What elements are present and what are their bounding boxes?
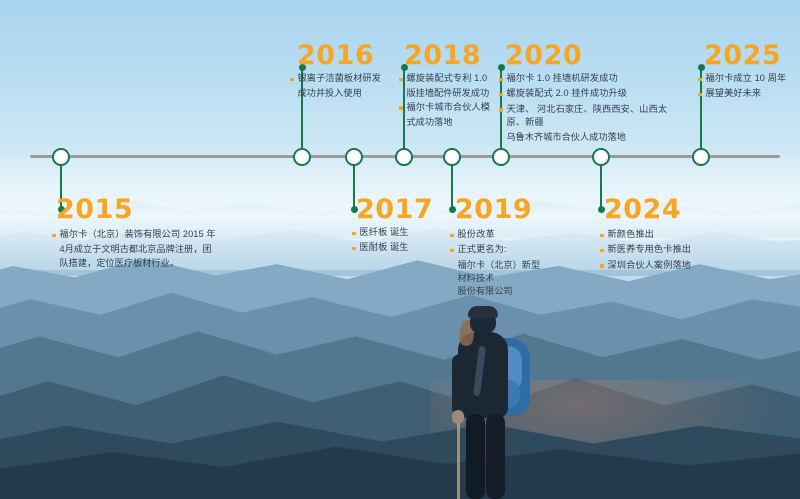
event-text-line: 展望美好未来 — [706, 87, 762, 100]
timeline-node-2016[interactable] — [293, 148, 311, 166]
event-text-line: 股份改革 — [458, 228, 495, 241]
trekking-pole — [457, 416, 460, 499]
bullet-square-icon — [290, 78, 294, 82]
event-text-line: 福尔卡成立 10 周年 — [706, 72, 787, 85]
event-bullet: 医纤板 诞生 — [352, 226, 432, 239]
year-label-2018: 2018 — [404, 42, 481, 69]
event-details-2018: 螺旋装配式专利 1.0版挂墙配件研发成功福尔卡城市合伙人模式成功落地 — [399, 72, 497, 129]
event-bullet: 深圳合伙人案例落地 — [600, 259, 720, 272]
event-details-2024: 新颜色推出新医养专用色卡推出深圳合伙人案例落地 — [600, 228, 720, 274]
event-bullet: 福尔卡成立 10 周年 — [698, 72, 798, 85]
event-bullet: 展望美好未来 — [698, 87, 798, 100]
event-bullet: 福尔卡（北京）装饰有限公司 2015 年 — [52, 228, 217, 241]
event-text-line: 福尔卡城市合伙人模 — [407, 101, 491, 114]
event-details-2020: 福尔卡 1.0 挂墙机研发成功螺旋装配式 2.0 挂件成功升级天津、 河北石家庄… — [499, 72, 669, 145]
year-label-2017: 2017 — [356, 196, 433, 223]
event-text-line: 新医养专用色卡推出 — [608, 243, 692, 256]
bullet-square-icon — [399, 78, 403, 82]
event-text-line: 深圳合伙人案例落地 — [608, 259, 692, 272]
bullet-square-icon — [499, 93, 503, 97]
bullet-square-icon — [450, 234, 454, 238]
timeline-node-2020[interactable] — [492, 148, 510, 166]
timeline-stem-tip-2020 — [498, 64, 505, 71]
event-text-line: 福尔卡（北京）装饰有限公司 2015 年 — [60, 228, 216, 241]
bullet-square-icon — [399, 106, 403, 110]
hiker-leg-right — [486, 414, 505, 499]
event-details-2025: 福尔卡成立 10 周年展望美好未来 — [698, 72, 798, 103]
event-text-line: 版挂墙配件研发成功 — [399, 87, 497, 100]
year-label-2024: 2024 — [604, 196, 681, 223]
timeline-node-2017[interactable] — [345, 148, 363, 166]
event-text-line: 天津、 河北石家庄、陕西西安、山西太原、新疆 — [507, 103, 670, 130]
event-text-line: 股份有限公司 — [450, 285, 548, 298]
bullet-square-icon — [499, 108, 503, 112]
hiker-figure — [432, 306, 552, 499]
event-bullet: 医耐板 诞生 — [352, 241, 432, 254]
year-label-2016: 2016 — [297, 42, 374, 69]
event-bullet: 股份改革 — [450, 228, 548, 241]
event-text-line: 4月成立于文明古都北京品牌注册，团 — [52, 243, 217, 256]
event-details-2015: 福尔卡（北京）装饰有限公司 2015 年4月成立于文明古都北京品牌注册，团队搭建… — [52, 228, 217, 270]
bullet-square-icon — [352, 247, 356, 251]
event-text-line: 螺旋装配式专利 1.0 — [407, 72, 488, 85]
bullet-square-icon — [499, 78, 503, 82]
event-bullet: 新医养专用色卡推出 — [600, 243, 720, 256]
timeline-node-2025[interactable] — [692, 148, 710, 166]
event-text-line: 银离子洁菌板材研发 — [298, 72, 382, 85]
year-label-2020: 2020 — [505, 42, 582, 69]
event-text-line: 式成功落地 — [399, 116, 497, 129]
timeline-node-2024[interactable] — [592, 148, 610, 166]
timeline-node-2015[interactable] — [52, 148, 70, 166]
timeline-infographic: 2015福尔卡（北京）装饰有限公司 2015 年4月成立于文明古都北京品牌注册，… — [0, 0, 800, 499]
timeline-node-2019[interactable] — [443, 148, 461, 166]
bullet-square-icon — [600, 249, 604, 253]
event-bullet: 天津、 河北石家庄、陕西西安、山西太原、新疆 — [499, 103, 669, 130]
bullet-square-icon — [600, 234, 604, 238]
event-text-line: 医纤板 诞生 — [360, 226, 409, 239]
hiker-cap — [468, 306, 498, 318]
event-text-line: 福尔卡 1.0 挂墙机研发成功 — [507, 72, 618, 85]
event-details-2017: 医纤板 诞生医耐板 诞生 — [352, 226, 432, 257]
event-bullet: 螺旋装配式 2.0 挂件成功升级 — [499, 87, 669, 100]
event-bullet: 正式更名为: — [450, 243, 548, 256]
event-text-line: 螺旋装配式 2.0 挂件成功升级 — [507, 87, 628, 100]
event-text-line: 成功并投入使用 — [290, 87, 386, 100]
event-text-line: 队搭建，定位医疗板材行业。 — [52, 257, 217, 270]
event-text-line: 医耐板 诞生 — [360, 241, 409, 254]
event-details-2019: 股份改革正式更名为:福尔卡（北京）新型材料技术股份有限公司 — [450, 228, 548, 299]
timeline-node-2018[interactable] — [395, 148, 413, 166]
hiker-hand — [452, 410, 464, 424]
bullet-square-icon — [600, 264, 604, 268]
bullet-square-icon — [352, 232, 356, 236]
event-bullet: 福尔卡城市合伙人模 — [399, 101, 497, 114]
event-text-line: 福尔卡（北京）新型材料技术 — [450, 259, 548, 286]
bullet-square-icon — [698, 93, 702, 97]
event-details-2016: 银离子洁菌板材研发成功并投入使用 — [290, 72, 386, 101]
event-bullet: 新颜色推出 — [600, 228, 720, 241]
year-label-2015: 2015 — [56, 196, 133, 223]
year-label-2019: 2019 — [455, 196, 532, 223]
event-bullet: 螺旋装配式专利 1.0 — [399, 72, 497, 85]
hiker-arm — [452, 354, 468, 416]
hiker-leg-left — [466, 414, 485, 499]
bullet-square-icon — [52, 234, 56, 238]
bullet-square-icon — [450, 249, 454, 253]
bullet-square-icon — [698, 78, 702, 82]
event-bullet: 银离子洁菌板材研发 — [290, 72, 386, 85]
year-label-2025: 2025 — [704, 42, 781, 69]
event-bullet: 福尔卡 1.0 挂墙机研发成功 — [499, 72, 669, 85]
event-text-line: 正式更名为: — [458, 243, 507, 256]
event-text-line: 新颜色推出 — [608, 228, 654, 241]
event-text-line: 乌鲁木齐城市合伙人成功落地 — [499, 131, 669, 144]
